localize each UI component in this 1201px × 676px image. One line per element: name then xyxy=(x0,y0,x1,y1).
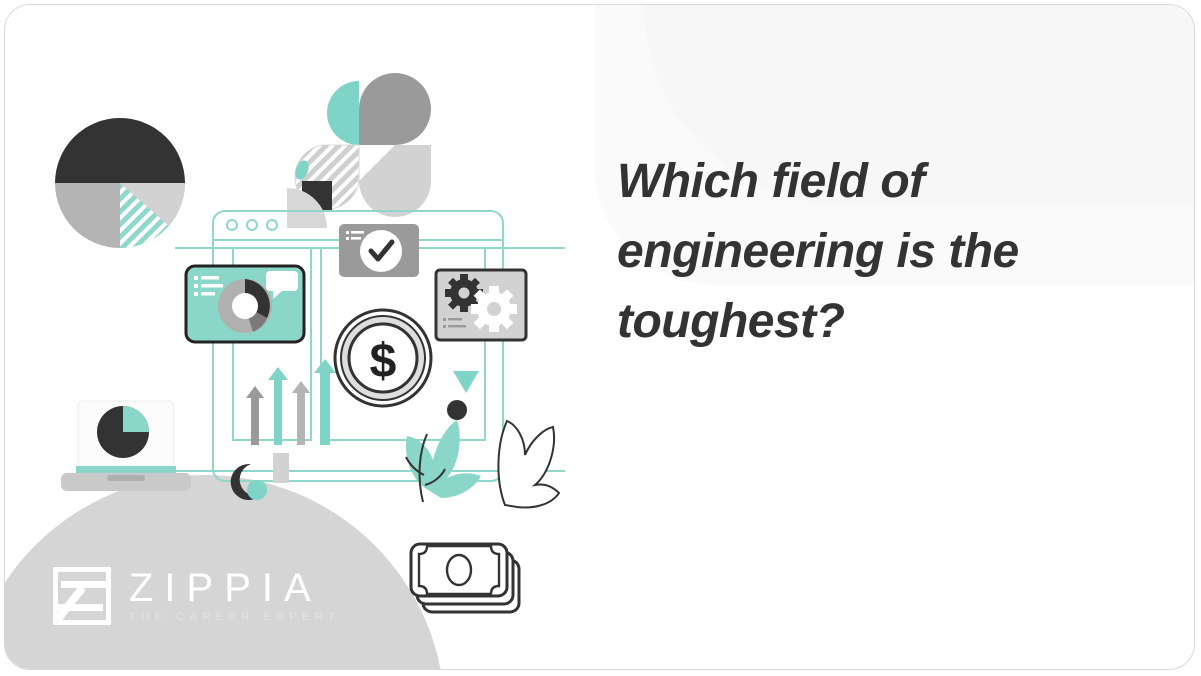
laptop-pie-chart xyxy=(97,406,149,458)
brand-name: ZIPPIA xyxy=(129,567,340,609)
zippia-mark-icon xyxy=(53,567,111,625)
laptop-pie xyxy=(61,401,191,491)
triangle-teal xyxy=(453,371,479,393)
page-title: Which field of engineering is the toughe… xyxy=(617,147,1137,357)
bar-arrows xyxy=(246,359,336,445)
poster-card: $ xyxy=(4,4,1195,670)
rect-gray-small xyxy=(273,453,289,483)
brand-logo: ZIPPIA THE CAREER EXPERT xyxy=(53,567,340,625)
dot-dark xyxy=(447,400,467,420)
svg-text:$: $ xyxy=(370,335,397,388)
gear-white-icon xyxy=(471,286,517,332)
donut-chart xyxy=(218,279,272,333)
donut-chart-card xyxy=(186,266,304,342)
plant-leaves xyxy=(406,420,559,507)
dollar-coin: $ xyxy=(335,310,431,406)
crescent-dark xyxy=(228,463,267,503)
brand-tagline: THE CAREER EXPERT xyxy=(129,609,340,625)
gears-card xyxy=(436,270,526,340)
checkmark-card xyxy=(339,224,419,277)
banknote-stack xyxy=(411,544,519,612)
pie-chart-large xyxy=(55,118,185,248)
